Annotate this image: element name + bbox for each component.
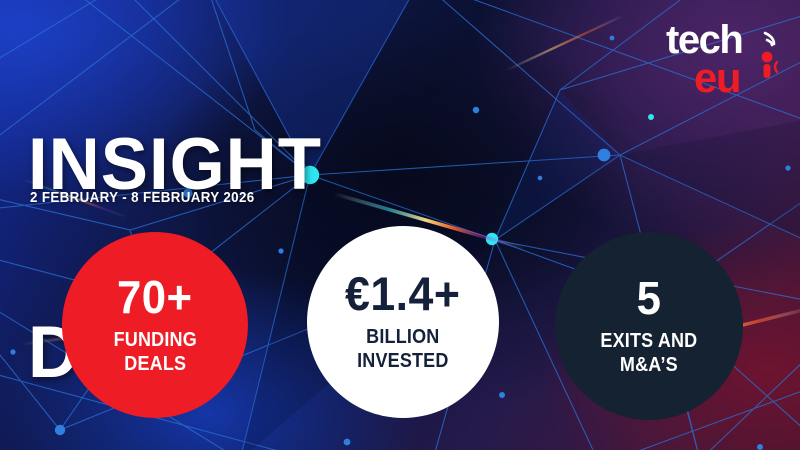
date-range-label: 2 FEBRUARY - 8 FEBRUARY 2026 (30, 190, 255, 206)
insight-data-poster: INSIGHT DATA 2 FEBRUARY - 8 FEBRUARY 202… (0, 0, 800, 450)
logo-microphone-icon (762, 33, 777, 78)
stat-circle-exits-and-ma[interactable]: 5 EXITS AND M&A’S (555, 232, 743, 420)
stat-value-exits-and-ma: 5 (637, 275, 662, 321)
stat-label-funding-deals: FUNDING DEALS (113, 329, 196, 376)
tech-eu-logo[interactable]: tech eu (664, 16, 786, 98)
stat-label-exits-and-ma: EXITS AND M&A’S (601, 330, 698, 377)
stat-circle-funding-deals[interactable]: 70+ FUNDING DEALS (62, 232, 248, 418)
stat-value-billion-invested: €1.4+ (345, 270, 460, 317)
stat-label-billion-invested: BILLION INVESTED (357, 326, 448, 373)
page-title-line1: INSIGHT (28, 134, 322, 197)
stat-circle-billion-invested[interactable]: €1.4+ BILLION INVESTED (307, 226, 499, 418)
stat-value-funding-deals: 70+ (117, 274, 193, 320)
logo-word-eu: eu (694, 54, 740, 98)
